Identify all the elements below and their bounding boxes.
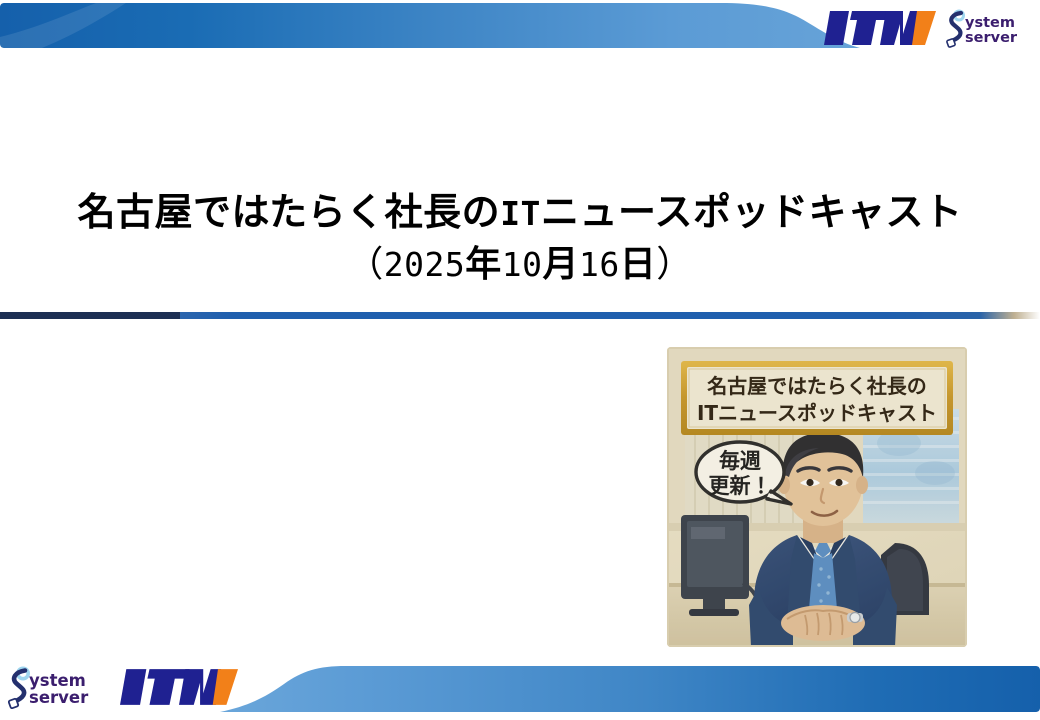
title-year-unit: 年 [465,244,502,285]
title-suffix: ニュースポッドキャスト [541,190,963,234]
page-title: 名古屋ではたらく社長のITニュースポッドキャスト （2025年10月16日） [0,186,1040,290]
itw-logo [120,665,238,709]
title-month-unit: 月 [542,244,579,285]
title-year: 2025 [384,245,465,284]
header-decorative-band [0,3,885,48]
divider-dark-segment [0,312,180,319]
title-day: 16 [579,245,620,284]
title-line-2: （2025年10月16日） [0,240,1040,290]
slide-canvas: ystem server 名古屋ではたらく社長のITニュースポッドキャスト （2… [0,0,1040,720]
system-server-logo: ystem server [946,8,1032,48]
title-open-paren: （ [347,244,384,285]
itw-logo [824,8,936,48]
podcast-cover-image: 名古屋ではたらく社長の ITニュースポッドキャスト 毎週 更新！ [667,347,967,647]
title-close-paren: ） [656,244,693,285]
footer-decorative-band [220,666,1040,712]
title-month: 10 [502,245,543,284]
divider-rule [0,312,1040,319]
system-server-logo: ystem server [8,665,108,709]
footer-logo-group: ystem server [8,664,238,710]
system-server-line2: server [29,688,89,707]
divider-blue-segment [180,312,1040,319]
title-day-unit: 日 [620,244,657,285]
header-logo-group: ystem server [824,6,1032,50]
system-server-line2: server [965,30,1018,46]
title-line-1: 名古屋ではたらく社長のITニュースポッドキャスト [0,186,1040,240]
system-server-line1: ystem [965,15,1015,31]
title-latin-it: IT [500,194,541,233]
title-prefix: 名古屋ではたらく社長の [77,190,500,234]
